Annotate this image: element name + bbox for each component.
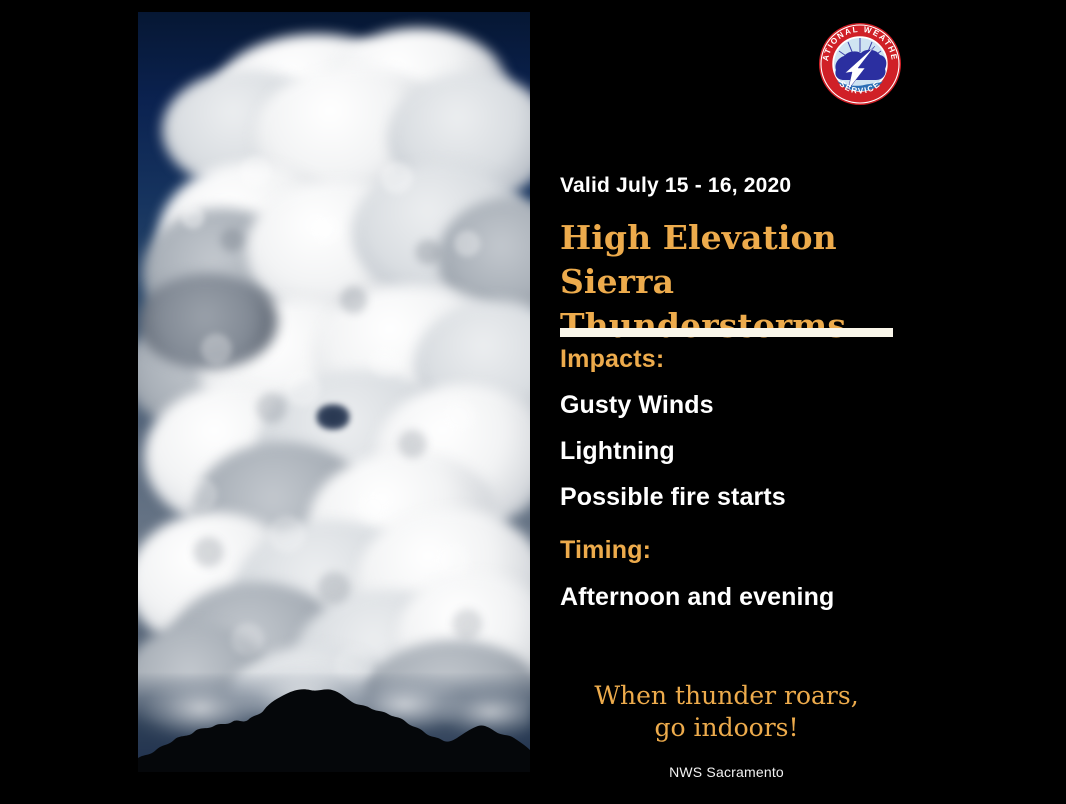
timing-item: Afternoon and evening bbox=[560, 583, 834, 612]
weather-graphic: NATIONAL WEATHER SERVICE Valid July 15 -… bbox=[0, 0, 1066, 804]
safety-slogan: When thunder roars, go indoors! bbox=[560, 680, 893, 744]
impact-item: Possible fire starts bbox=[560, 483, 786, 512]
issuing-office: NWS Sacramento bbox=[560, 764, 893, 780]
lower-cloud-band bbox=[138, 662, 530, 758]
thunderstorm-photo bbox=[138, 12, 530, 792]
impacts-heading: Impacts: bbox=[560, 345, 664, 374]
cloud-gap bbox=[316, 404, 350, 430]
slogan-line-2: go indoors! bbox=[560, 712, 893, 744]
divider bbox=[560, 328, 893, 337]
slogan-line-1: When thunder roars, bbox=[560, 680, 893, 712]
impact-item: Gusty Winds bbox=[560, 391, 714, 420]
timing-heading: Timing: bbox=[560, 536, 651, 565]
nws-logo-icon: NATIONAL WEATHER SERVICE bbox=[818, 22, 902, 106]
valid-period: Valid July 15 - 16, 2020 bbox=[560, 174, 791, 198]
impact-item: Lightning bbox=[560, 437, 675, 466]
content-column: NATIONAL WEATHER SERVICE Valid July 15 -… bbox=[560, 0, 1030, 804]
